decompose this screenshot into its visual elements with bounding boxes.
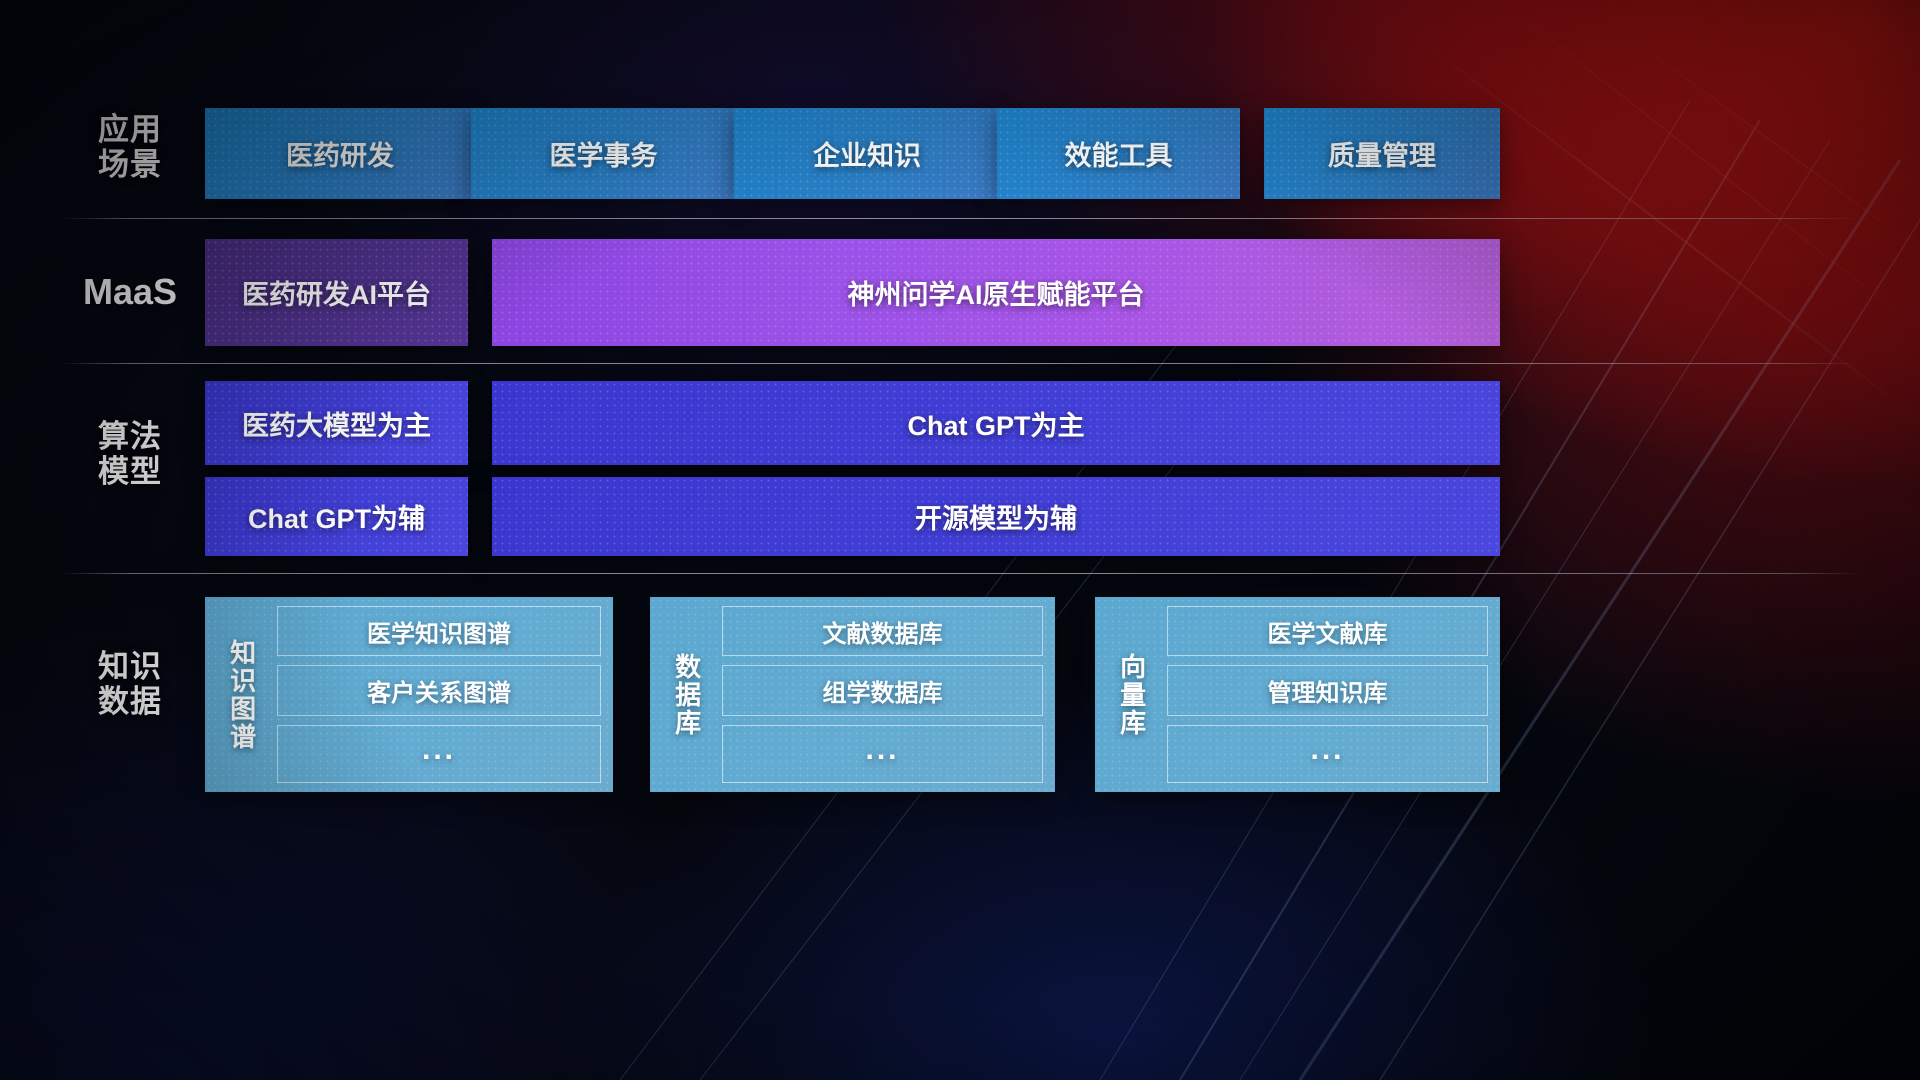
row-label-scenario: 应用 场景 xyxy=(60,113,200,182)
scenario-box-2[interactable]: 医学事务 xyxy=(471,108,736,199)
knowledge-item-2-2[interactable]: 组学数据库 xyxy=(722,665,1043,715)
row-label-algorithm: 算法 模型 xyxy=(60,420,200,489)
row-label-maas: MaaS xyxy=(60,272,200,312)
scenario-box-4[interactable]: 效能工具 xyxy=(997,108,1240,199)
scenario-label-4: 效能工具 xyxy=(1065,134,1173,173)
algo-right-label-2: 开源模型为辅 xyxy=(915,497,1077,536)
knowledge-group-title-1: 知识图谱 xyxy=(205,606,277,783)
scenario-box-1[interactable]: 医药研发 xyxy=(205,108,475,199)
maas-box-shenzhou-wenxue-platform[interactable]: 神州问学AI原生赋能平台 xyxy=(492,239,1500,346)
knowledge-item-list-2: 文献数据库 组学数据库 ... xyxy=(722,606,1043,783)
scenario-label-5: 质量管理 xyxy=(1328,134,1436,173)
architecture-diagram: 应用 场景 医药研发 医学事务 企业知识 效能工具 质量管理 MaaS 医药研发… xyxy=(0,0,1920,1080)
knowledge-item-2-3[interactable]: ... xyxy=(722,725,1043,783)
divider-scenario-maas xyxy=(60,218,1860,219)
maas-box-pharma-ai-platform[interactable]: 医药研发AI平台 xyxy=(205,239,468,346)
knowledge-item-1-2[interactable]: 客户关系图谱 xyxy=(277,665,601,715)
maas-right-label: 神州问学AI原生赋能平台 xyxy=(848,273,1145,312)
knowledge-group-vector-db[interactable]: 向量库 医学文献库 管理知识库 ... xyxy=(1095,597,1500,792)
knowledge-group-knowledge-graph[interactable]: 知识图谱 医学知识图谱 客户关系图谱 ... xyxy=(205,597,613,792)
algo-left-label-1: 医药大模型为主 xyxy=(242,404,431,443)
row-label-knowledge: 知识 数据 xyxy=(60,650,200,719)
scenario-label-3: 企业知识 xyxy=(813,134,921,173)
algo-right-label-1: Chat GPT为主 xyxy=(907,404,1084,443)
maas-left-label: 医药研发AI平台 xyxy=(242,273,431,312)
knowledge-item-1-3[interactable]: ... xyxy=(277,725,601,783)
knowledge-group-title-3: 向量库 xyxy=(1095,606,1167,783)
algo-box-chatgpt-primary[interactable]: Chat GPT为主 xyxy=(492,381,1500,465)
knowledge-item-list-1: 医学知识图谱 客户关系图谱 ... xyxy=(277,606,601,783)
knowledge-item-3-1[interactable]: 医学文献库 xyxy=(1167,606,1488,656)
algo-box-opensource-secondary[interactable]: 开源模型为辅 xyxy=(492,477,1500,556)
algo-box-pharma-llm-primary[interactable]: 医药大模型为主 xyxy=(205,381,468,465)
scenario-label-2: 医学事务 xyxy=(550,134,658,173)
knowledge-item-1-1[interactable]: 医学知识图谱 xyxy=(277,606,601,656)
scenario-box-5[interactable]: 质量管理 xyxy=(1264,108,1500,199)
divider-maas-algorithm xyxy=(60,363,1860,364)
knowledge-item-3-3[interactable]: ... xyxy=(1167,725,1488,783)
knowledge-group-title-2: 数据库 xyxy=(650,606,722,783)
scenario-label-1: 医药研发 xyxy=(286,134,394,173)
knowledge-group-database[interactable]: 数据库 文献数据库 组学数据库 ... xyxy=(650,597,1055,792)
scenario-box-3[interactable]: 企业知识 xyxy=(734,108,1000,199)
algo-left-label-2: Chat GPT为辅 xyxy=(248,497,425,536)
knowledge-item-2-1[interactable]: 文献数据库 xyxy=(722,606,1043,656)
knowledge-item-3-2[interactable]: 管理知识库 xyxy=(1167,665,1488,715)
divider-algorithm-knowledge xyxy=(60,573,1860,574)
knowledge-item-list-3: 医学文献库 管理知识库 ... xyxy=(1167,606,1488,783)
algo-box-chatgpt-secondary[interactable]: Chat GPT为辅 xyxy=(205,477,468,556)
